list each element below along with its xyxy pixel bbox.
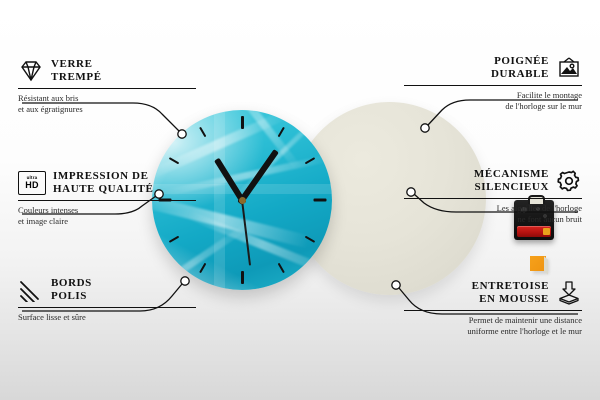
feature-subtitle: Résistant aux bris et aux égratignures (18, 93, 196, 115)
hanging-picture-icon (556, 56, 582, 80)
hour-marker (241, 271, 244, 284)
feature-subtitle: Les aiguilles de l'horloge ne font aucun… (404, 203, 582, 225)
feature-title: BORDS POLIS (51, 277, 92, 303)
divider (18, 307, 196, 308)
hour-marker (278, 263, 285, 274)
feature-header: VERRE TREMPÉ (18, 58, 196, 84)
feature-header: POIGNÉE DURABLE (404, 55, 582, 81)
divider (404, 85, 582, 86)
hour-marker (199, 263, 206, 274)
hour-marker (278, 127, 285, 138)
feature-subtitle: Couleurs intenses et image claire (18, 205, 196, 227)
feature-mecanisme-silencieux: MÉCANISME SILENCIEUX Les aiguilles de l'… (404, 168, 582, 225)
hour-marker (199, 127, 206, 138)
glass-reflection (214, 110, 225, 290)
divider (18, 200, 196, 201)
ultra-hd-icon: ultra HD (18, 171, 46, 195)
feature-title: IMPRESSION DE HAUTE QUALITÉ (53, 170, 153, 196)
feature-poignee-durable: POIGNÉE DURABLE Facilite le montage de l… (404, 55, 582, 112)
feature-title: POIGNÉE DURABLE (491, 55, 549, 81)
ultra-hd-icon-main: HD (25, 181, 38, 190)
feature-bords-polis: BORDS POLIS Surface lisse et sûre (18, 277, 196, 323)
feature-header: MÉCANISME SILENCIEUX (404, 168, 582, 194)
hands-center-cap (239, 197, 246, 204)
feature-header: ENTRETOISE EN MOUSSE (404, 280, 582, 306)
feature-header: ultra HD IMPRESSION DE HAUTE QUALITÉ (18, 170, 196, 196)
feature-title: VERRE TREMPÉ (51, 58, 102, 84)
feature-subtitle: Permet de maintenir une distance uniform… (404, 315, 582, 337)
feature-subtitle: Facilite le montage de l'horloge sur le … (404, 90, 582, 112)
press-down-layers-icon (556, 281, 582, 305)
diamond-icon (18, 59, 44, 83)
hour-marker (241, 116, 244, 129)
hour-marker (169, 236, 180, 243)
diagonal-lines-icon (18, 278, 44, 302)
feature-header: BORDS POLIS (18, 277, 196, 303)
infographic-stage: VERRE TREMPÉ Résistant aux bris et aux é… (0, 0, 600, 400)
gear-icon (556, 169, 582, 193)
foam-spacer (530, 256, 546, 271)
divider (18, 88, 196, 89)
feature-title: MÉCANISME SILENCIEUX (474, 168, 549, 194)
feature-title: ENTRETOISE EN MOUSSE (472, 280, 549, 306)
hour-marker (314, 199, 327, 202)
feather-streak (186, 210, 332, 278)
feature-entretoise-en-mousse: ENTRETOISE EN MOUSSE Permet de maintenir… (404, 280, 582, 337)
divider (404, 310, 582, 311)
feature-subtitle: Surface lisse et sûre (18, 312, 196, 323)
feature-impression-haute-qualite: ultra HD IMPRESSION DE HAUTE QUALITÉ Cou… (18, 170, 196, 227)
divider (404, 198, 582, 199)
battery (517, 226, 551, 237)
feature-verre-trempe: VERRE TREMPÉ Résistant aux bris et aux é… (18, 58, 196, 115)
